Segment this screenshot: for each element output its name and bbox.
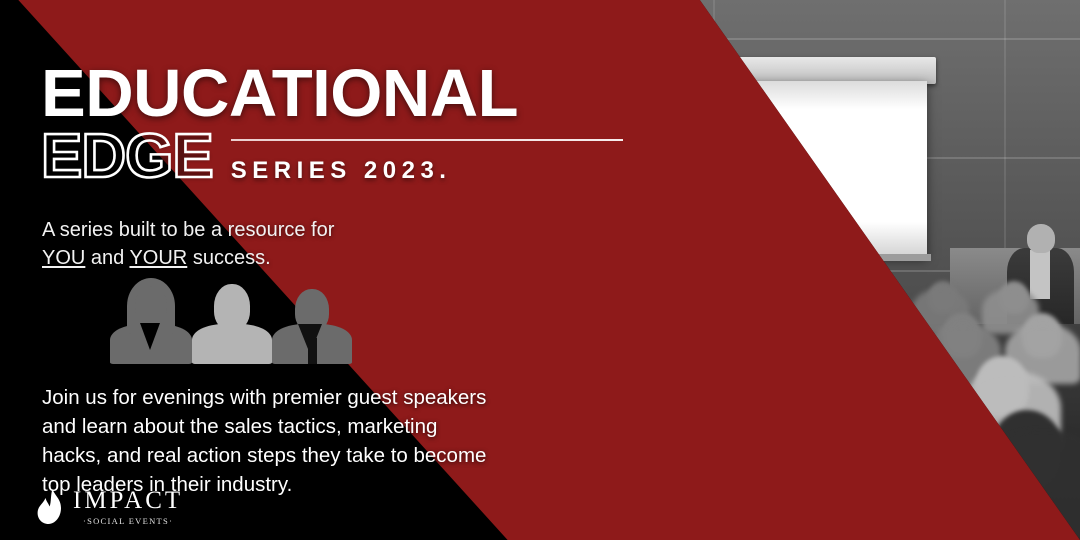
series-divider: [231, 139, 623, 141]
subtitle-connector: and: [85, 247, 129, 269]
headline-secondary-row: EDGE SERIES 2023.: [41, 127, 623, 188]
subtitle-emphasis-you: YOU: [42, 247, 85, 269]
person-silhouette: [192, 278, 272, 364]
logo-wordmark: IMPACT ·SOCIAL EVENTS·: [73, 488, 183, 526]
flame-icon: [36, 488, 64, 526]
businessman-silhouette: [272, 278, 352, 364]
impact-social-events-logo: IMPACT ·SOCIAL EVENTS·: [36, 488, 183, 526]
headline-outline-word: EDGE: [41, 127, 213, 188]
headline-primary: EDUCATIONAL: [41, 62, 623, 126]
logo-tagline: ·SOCIAL EVENTS·: [83, 516, 173, 526]
business-silhouettes-group: [110, 278, 350, 364]
headline-block: EDUCATIONAL EDGE SERIES 2023.: [41, 62, 623, 188]
subtitle-line-1: A series built to be a resource for: [42, 216, 334, 244]
businesswoman-silhouette: [110, 278, 192, 364]
subtitle: A series built to be a resource for YOU …: [42, 216, 334, 273]
banner-content: EDUCATIONAL EDGE SERIES 2023. A series b…: [0, 0, 1080, 540]
series-block: SERIES 2023.: [231, 139, 623, 188]
event-promo-banner: EDUCATIONAL EDGE SERIES 2023. A series b…: [0, 0, 1080, 540]
logo-name: IMPACT: [73, 488, 183, 513]
series-label: SERIES 2023.: [231, 157, 623, 185]
body-line-1: Join us for evenings with premier guest …: [42, 383, 486, 412]
subtitle-emphasis-your: YOUR: [129, 247, 187, 269]
body-line-3: hacks, and real action steps they take t…: [42, 441, 486, 470]
subtitle-tail: success.: [187, 247, 270, 269]
subtitle-line-2: YOU and YOUR success.: [42, 244, 334, 272]
body-copy: Join us for evenings with premier guest …: [42, 383, 486, 499]
body-line-2: and learn about the sales tactics, marke…: [42, 412, 486, 441]
